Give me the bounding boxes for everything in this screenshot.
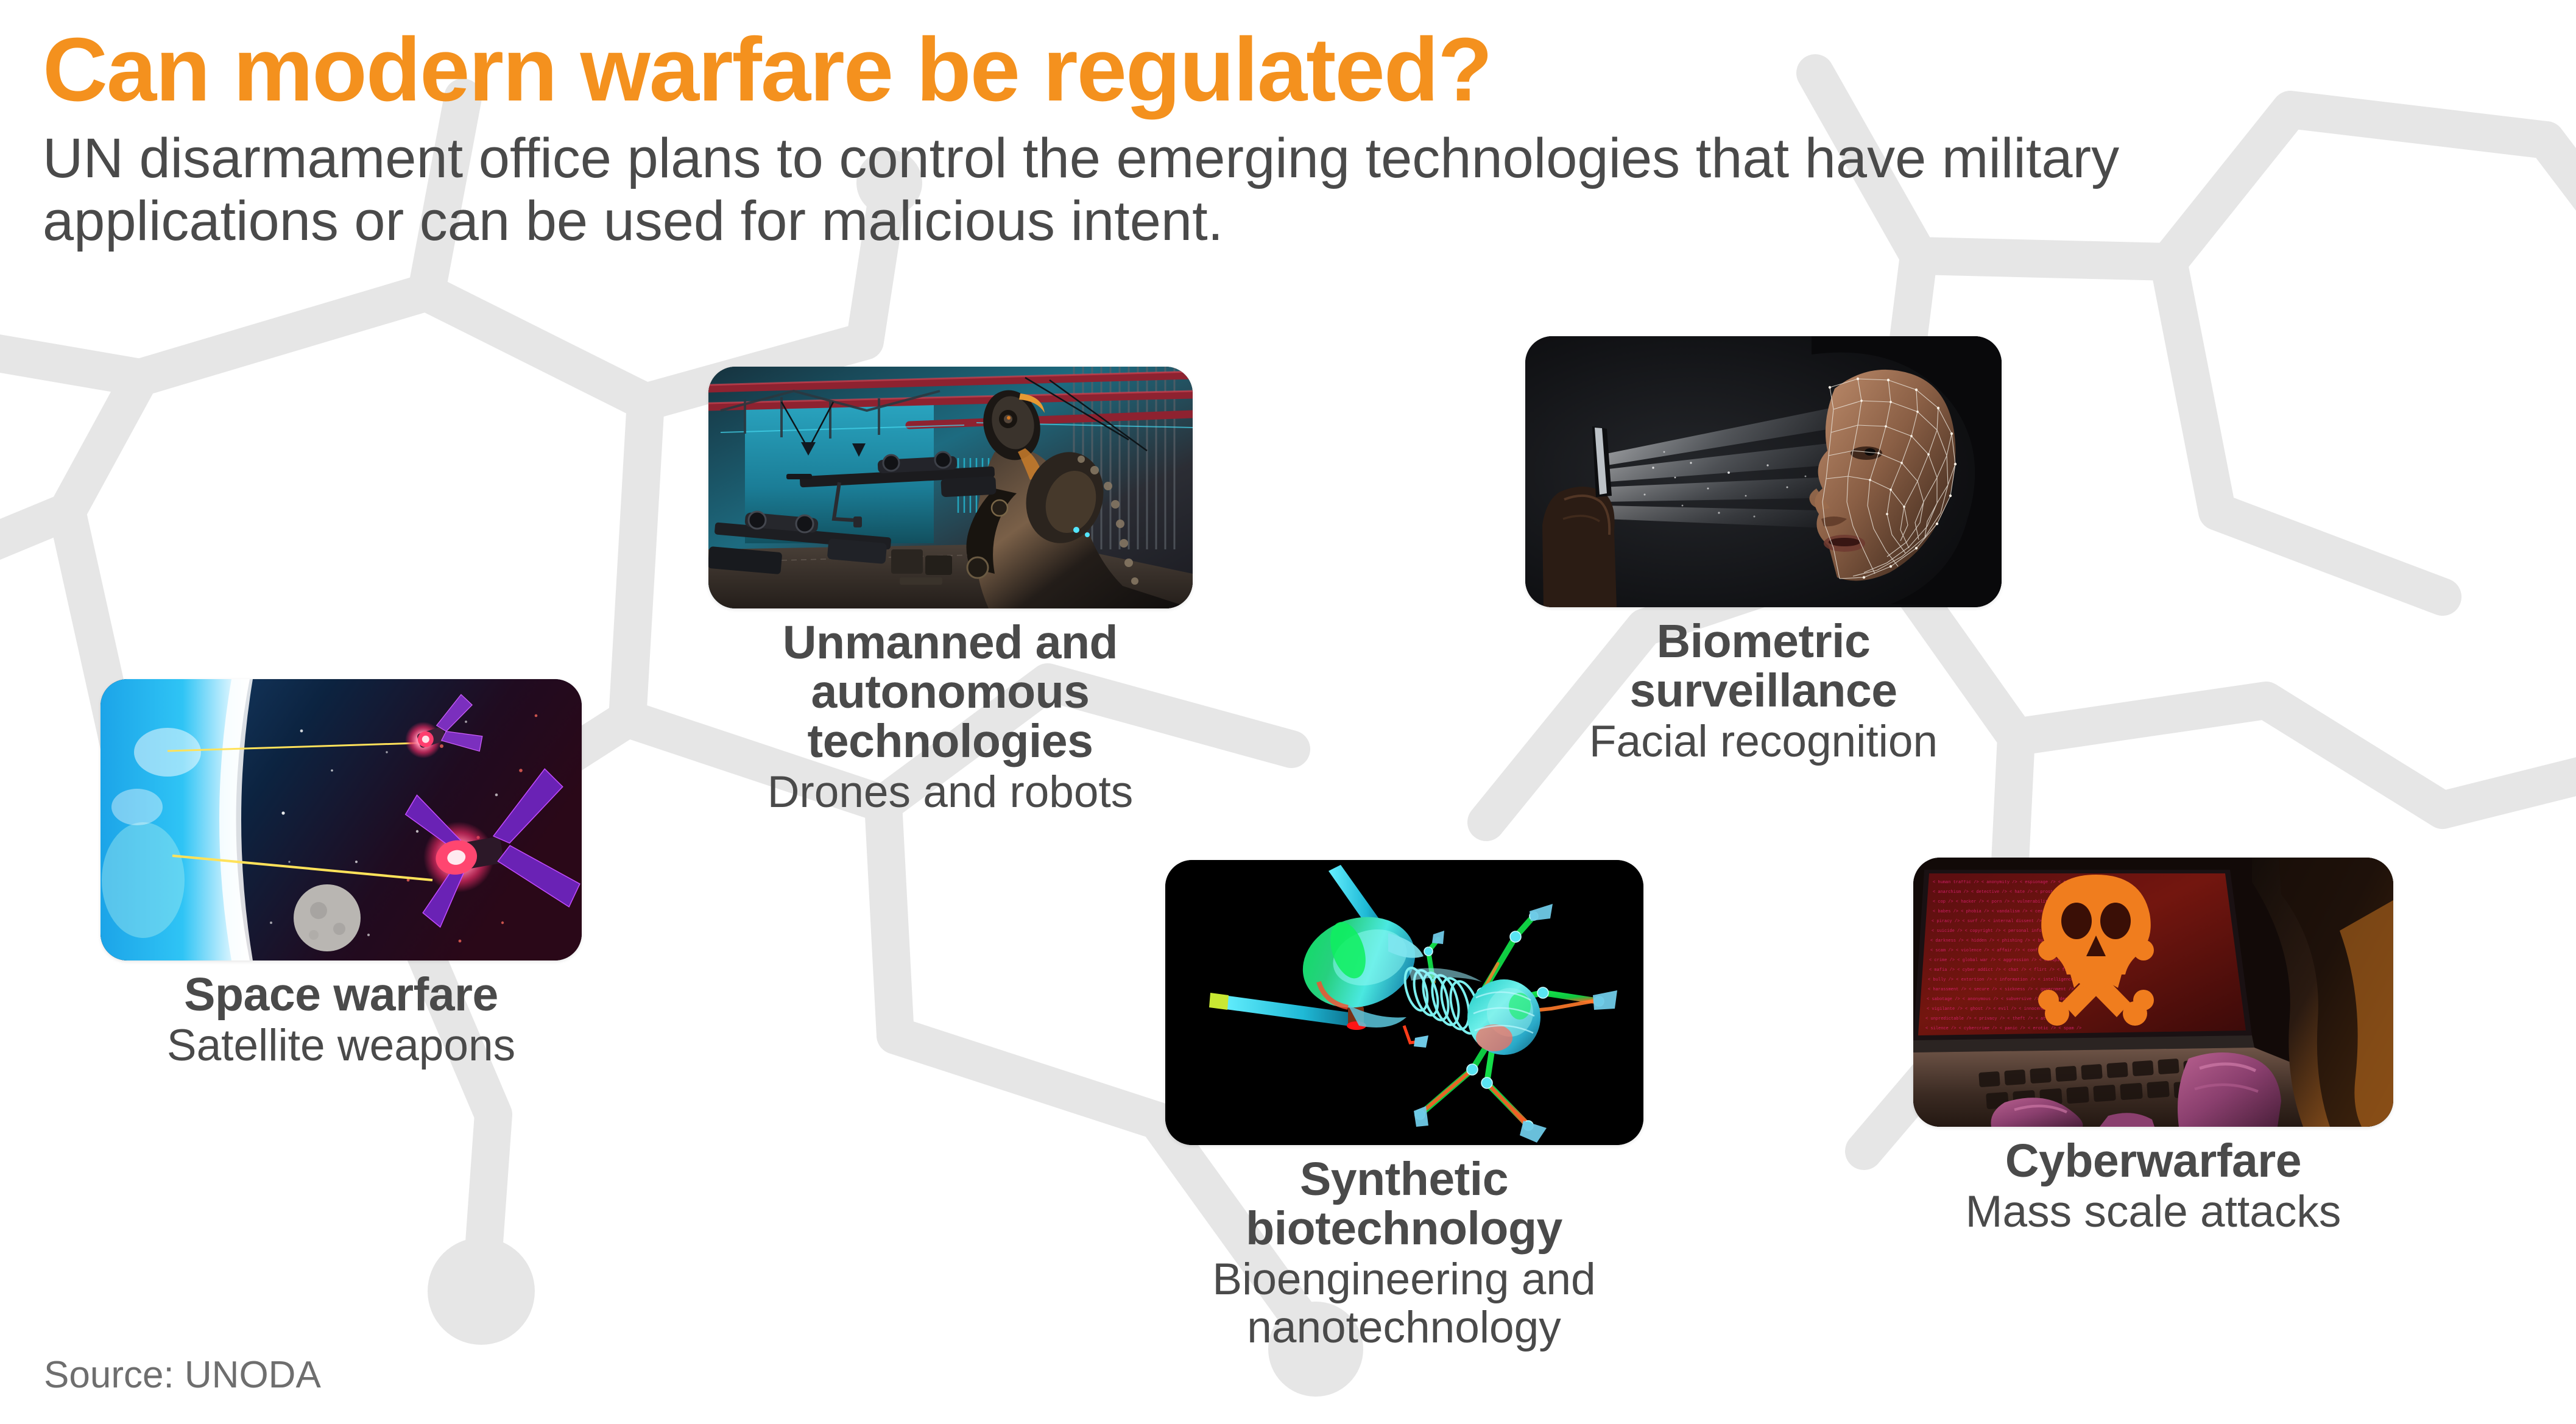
biometric-surveillance-image	[1525, 336, 2002, 607]
svg-text:< scam /> < violence /> < affa: < scam /> < violence /> < affair /> < co…	[1930, 948, 2056, 953]
source-note: Source: UNODA	[44, 1353, 321, 1397]
card-biometric-surveillance: Biometric surveillance Facial recognitio…	[1477, 336, 2050, 766]
lattice-node	[428, 1238, 535, 1345]
card-synthetic-biotechnology: Synthetic biotechnology Bioengineering a…	[1118, 860, 1690, 1352]
cyberwarfare-subtitle: Mass scale attacks	[1867, 1188, 2440, 1236]
svg-text:< cop /> < hacker /> < porn />: < cop /> < hacker /> < porn /> < vulnera…	[1933, 900, 2058, 904]
synthetic-biotechnology-caption: Synthetic biotechnology Bioengineering a…	[1118, 1155, 1690, 1352]
unmanned-title-line2: autonomous	[661, 668, 1240, 717]
space-warfare-subtitle: Satellite weapons	[55, 1022, 627, 1070]
unmanned-title-line3: technologies	[661, 717, 1240, 766]
unmanned-autonomous-image	[708, 367, 1193, 608]
svg-text:< unpredictable /> < privacy /: < unpredictable /> < privacy /> < theft …	[1925, 1017, 2064, 1021]
page-title: Can modern warfare be regulated?	[43, 24, 2418, 116]
header: Can modern warfare be regulated? UN disa…	[43, 24, 2418, 253]
card-cyberwarfare: < human traffic /> < anonymity /> < espi…	[1867, 858, 2440, 1236]
card-space-warfare: Space warfare Satellite weapons	[55, 679, 627, 1070]
synthetic-biotechnology-image	[1165, 860, 1643, 1145]
card-unmanned-autonomous: Unmanned and autonomous technologies Dro…	[661, 367, 1240, 816]
svg-text:< bully /> < extortion /> < in: < bully /> < extortion /> < information …	[1928, 978, 2081, 982]
cyberwarfare-caption: Cyberwarfare Mass scale attacks	[1867, 1137, 2440, 1236]
space-warfare-caption: Space warfare Satellite weapons	[55, 970, 627, 1070]
svg-text:< silence /> < cybercrime /> <: < silence /> < cybercrime /> < panic /> …	[1925, 1026, 2081, 1031]
cyberwarfare-image: < human traffic /> < anonymity /> < espi…	[1913, 858, 2393, 1127]
page-subtitle: UN disarmament office plans to control t…	[43, 127, 2418, 253]
svg-text:< crime /> < global war /> < a: < crime /> < global war /> < aggression …	[1929, 958, 2078, 963]
synthetic-subtitle-line2: nanotechnology	[1118, 1304, 1690, 1352]
synthetic-title-line1: Synthetic	[1118, 1155, 1690, 1204]
svg-text:< mafia /> < cyber addict /> <: < mafia /> < cyber addict /> < chat /> <…	[1929, 968, 2083, 973]
biometric-title-line2: surveillance	[1477, 666, 2050, 716]
cyberwarfare-title: Cyberwarfare	[1867, 1137, 2440, 1186]
biometric-title-line1: Biometric	[1477, 617, 2050, 666]
unmanned-subtitle: Drones and robots	[661, 769, 1240, 817]
unmanned-autonomous-caption: Unmanned and autonomous technologies Dro…	[661, 618, 1240, 816]
unmanned-title-line1: Unmanned and	[661, 618, 1240, 668]
space-warfare-image	[101, 679, 582, 960]
biometric-subtitle: Facial recognition	[1477, 718, 2050, 766]
synthetic-title-line2: biotechnology	[1118, 1204, 1690, 1253]
space-warfare-title: Space warfare	[55, 970, 627, 1020]
biometric-surveillance-caption: Biometric surveillance Facial recognitio…	[1477, 617, 2050, 766]
synthetic-subtitle-line1: Bioengineering and	[1118, 1256, 1690, 1304]
